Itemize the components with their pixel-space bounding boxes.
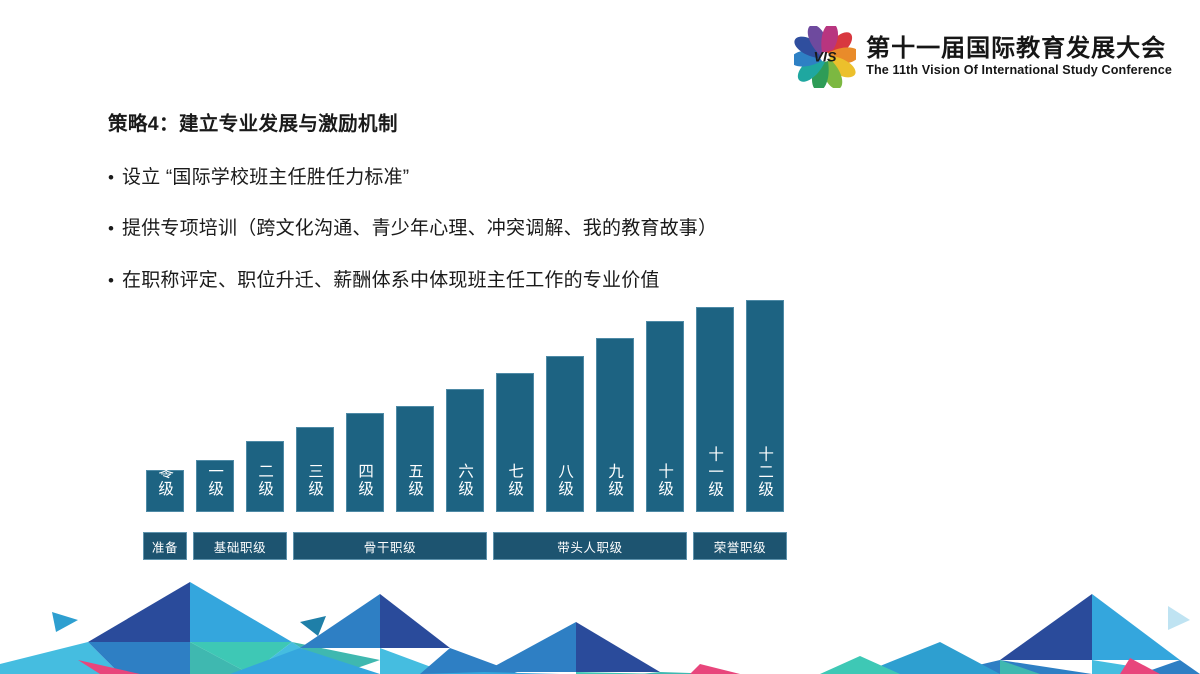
- low-poly-mountain-footer: [0, 564, 1200, 674]
- bullet-text: 提供专项培训（跨文化沟通、青少年心理、冲突调解、我的教育故事）: [122, 213, 717, 240]
- chart-group-band: 带头人职级: [493, 532, 687, 560]
- bullet-marker-icon: •: [108, 272, 122, 289]
- chart-bar: 十二级: [746, 300, 784, 512]
- chart-bar-label: 九级: [607, 463, 623, 511]
- logo-title-cn: 第十一届国际教育发展大会: [866, 36, 1172, 62]
- chart-bar-label: 六级: [457, 463, 473, 511]
- chart-bar: 八级: [546, 356, 584, 512]
- vis-pinwheel-logo-icon: VIS: [794, 26, 856, 88]
- logo-text-block: 第十一届国际教育发展大会 The 11th Vision Of Internat…: [866, 36, 1172, 78]
- bullet-item: • 设立 “国际学校班主任胜任力标准”: [108, 162, 409, 189]
- bullet-marker-icon: •: [108, 220, 122, 237]
- chart-bar: 九级: [596, 338, 634, 512]
- bullet-marker-icon: •: [108, 169, 122, 186]
- career-ladder-bar-chart: 零级一级二级三级四级五级六级七级八级九级十级十一级十二级 准备基础职级骨干职级带…: [140, 300, 840, 560]
- chart-group-band: 荣誉职级: [693, 532, 787, 560]
- chart-bar: 七级: [496, 373, 534, 512]
- chart-bar: 十级: [646, 321, 684, 512]
- chart-bar: 六级: [446, 389, 484, 512]
- chart-group-bands: 准备基础职级骨干职级带头人职级荣誉职级: [140, 532, 840, 560]
- logo-title-en: The 11th Vision Of International Study C…: [866, 64, 1172, 78]
- chart-bar-label: 八级: [557, 463, 573, 511]
- chart-bar-label: 二级: [257, 463, 273, 511]
- chart-bar-label: 五级: [407, 463, 423, 511]
- chart-bar-label: 十二级: [757, 446, 773, 512]
- conference-logo: VIS 第十一届国际教育发展大会 The 11th Vision Of Inte…: [794, 26, 1172, 88]
- chart-bar: 四级: [346, 413, 384, 512]
- chart-group-band: 准备: [143, 532, 187, 560]
- bullet-text: 在职称评定、职位升迁、薪酬体系中体现班主任工作的专业价值: [122, 265, 660, 292]
- chart-bar: 三级: [296, 427, 334, 512]
- chart-group-band: 基础职级: [193, 532, 287, 560]
- chart-bar-label: 三级: [307, 463, 323, 511]
- chart-bar-label: 十一级: [707, 446, 723, 512]
- chart-bar-label: 七级: [507, 463, 523, 511]
- chart-bar-label: 十级: [657, 463, 673, 511]
- chart-bar-label: 一级: [207, 463, 223, 511]
- bullet-item: • 提供专项培训（跨文化沟通、青少年心理、冲突调解、我的教育故事）: [108, 213, 717, 240]
- bullet-text: 设立 “国际学校班主任胜任力标准”: [122, 162, 409, 189]
- vis-logo-wordmark: VIS: [814, 49, 837, 65]
- chart-bar: 零级: [146, 470, 184, 512]
- chart-group-band: 骨干职级: [293, 532, 487, 560]
- bullet-item: • 在职称评定、职位升迁、薪酬体系中体现班主任工作的专业价值: [108, 265, 660, 292]
- slide-title: 策略4：建立专业发展与激励机制: [108, 107, 398, 136]
- chart-bar: 十一级: [696, 307, 734, 512]
- chart-bar-label: 零级: [157, 463, 173, 511]
- chart-bar-label: 四级: [357, 463, 373, 511]
- chart-bar: 五级: [396, 406, 434, 512]
- slide-canvas: VIS 第十一届国际教育发展大会 The 11th Vision Of Inte…: [0, 0, 1200, 674]
- chart-bar: 一级: [196, 460, 234, 512]
- chart-bar: 二级: [246, 441, 284, 512]
- chart-bars: 零级一级二级三级四级五级六级七级八级九级十级十一级十二级: [140, 300, 840, 512]
